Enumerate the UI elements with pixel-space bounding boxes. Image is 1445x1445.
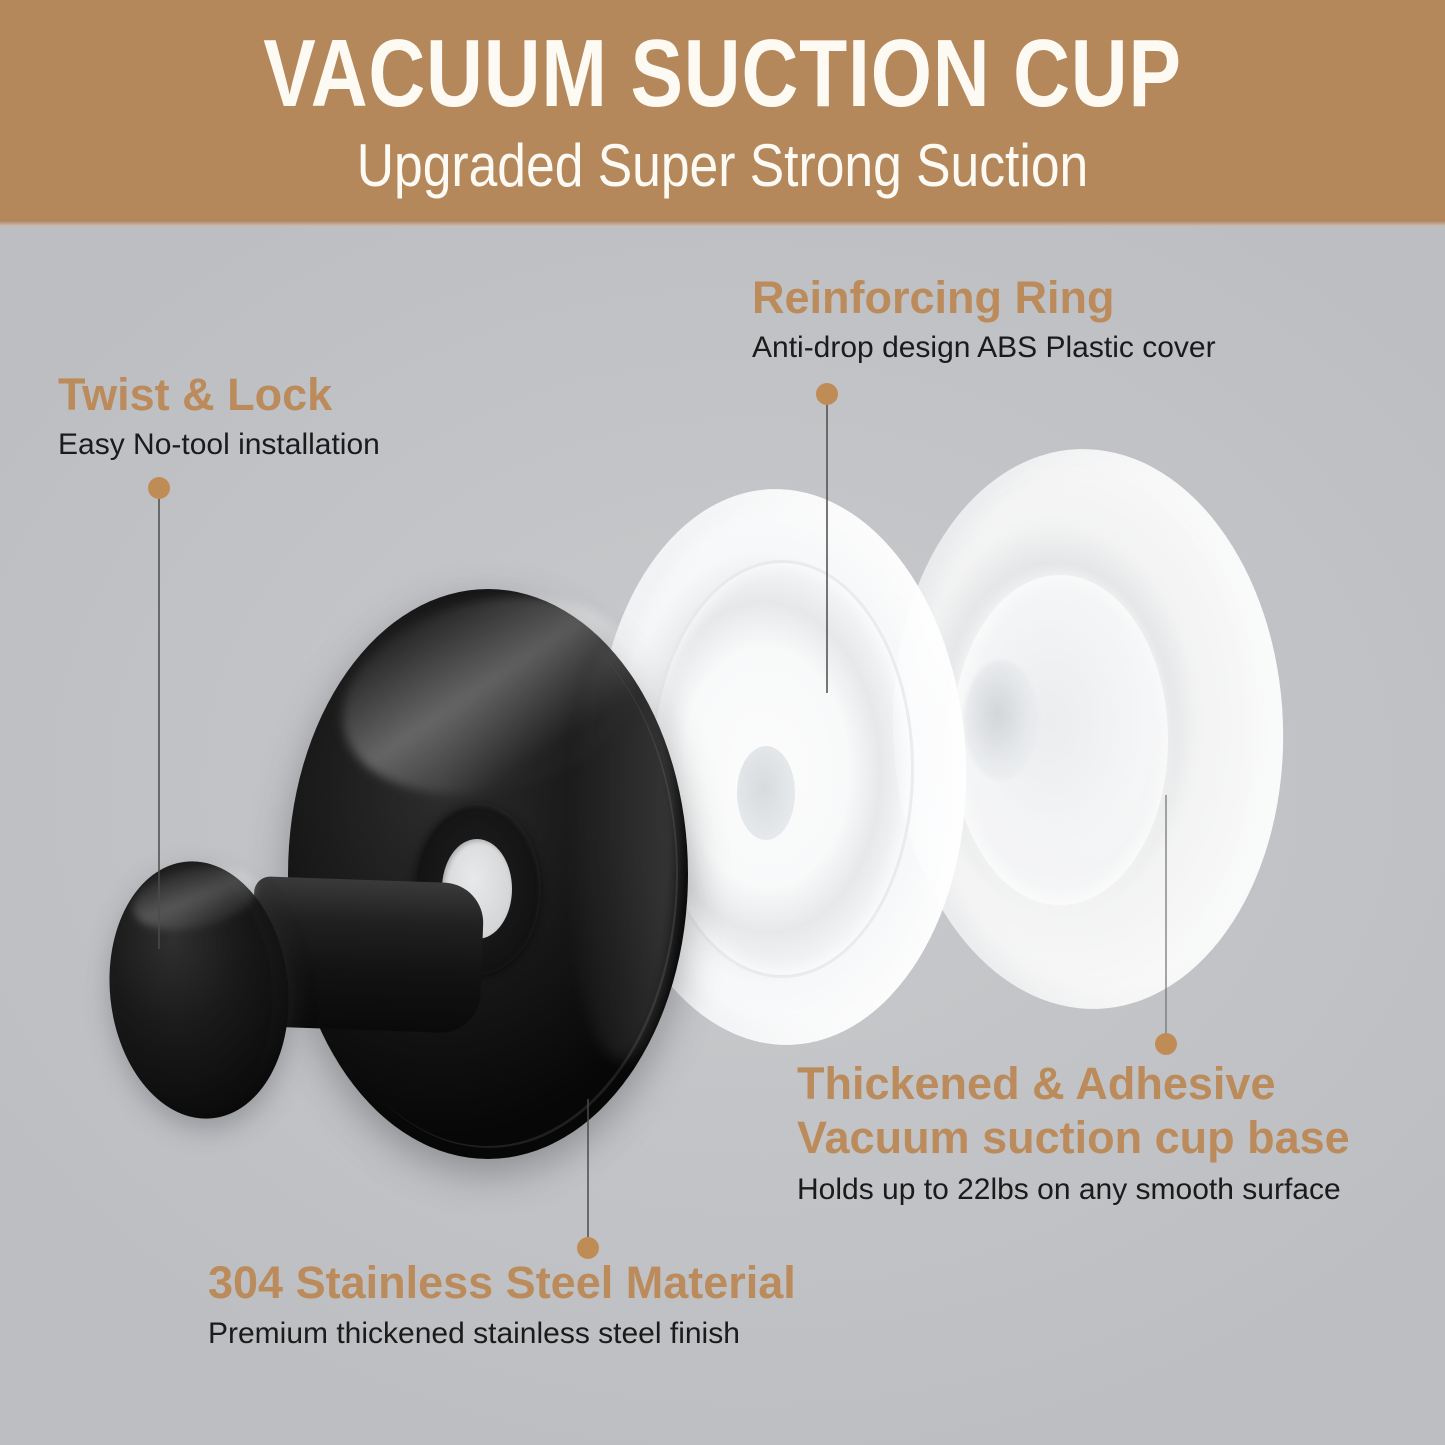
leader-dot-stainless <box>577 1237 599 1259</box>
leader-line-reinforcing-ring <box>826 403 828 693</box>
callout-twist-lock-title: Twist & Lock <box>58 369 380 421</box>
callout-suction-cup-base-title-line1: Thickened & Adhesive <box>797 1057 1350 1111</box>
leader-dot-twist-lock <box>148 477 170 499</box>
callout-stainless-steel-subtitle: Premium thickened stainless steel finish <box>208 1314 796 1354</box>
callout-twist-lock-subtitle: Easy No-tool installation <box>58 425 380 465</box>
callout-twist-lock: Twist & Lock Easy No-tool installation <box>58 369 380 465</box>
leader-line-suction-base <box>1165 795 1167 1041</box>
callout-reinforcing-ring-subtitle: Anti-drop design ABS Plastic cover <box>752 328 1216 368</box>
callout-suction-cup-base: Thickened & Adhesive Vacuum suction cup … <box>797 1057 1350 1210</box>
leader-dot-suction-base <box>1155 1033 1177 1055</box>
suction-cup-center-nub <box>964 660 1038 780</box>
leader-line-stainless <box>587 1099 589 1249</box>
callout-stainless-steel: 304 Stainless Steel Material Premium thi… <box>208 1257 796 1354</box>
product-infographic: VACUUM SUCTION CUP Upgraded Super Strong… <box>0 0 1445 1445</box>
callout-suction-cup-base-subtitle: Holds up to 22lbs on any smooth surface <box>797 1170 1350 1210</box>
callout-reinforcing-ring-title: Reinforcing Ring <box>752 272 1216 324</box>
reinforcing-ring-center-hole <box>737 746 795 840</box>
product-illustration <box>0 0 1445 1445</box>
leader-line-twist-lock <box>158 497 160 949</box>
callout-suction-cup-base-title-line2: Vacuum suction cup base <box>797 1111 1350 1165</box>
callout-stainless-steel-title: 304 Stainless Steel Material <box>208 1257 796 1309</box>
callout-reinforcing-ring: Reinforcing Ring Anti-drop design ABS Pl… <box>752 272 1216 368</box>
leader-dot-reinforcing-ring <box>816 383 838 405</box>
